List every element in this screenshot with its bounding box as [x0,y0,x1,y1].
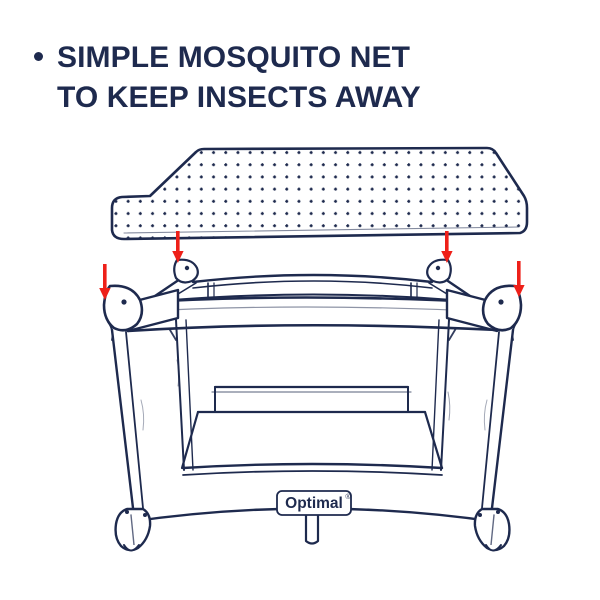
playpen-frame: Optimal ® [104,260,521,551]
mosquito-net-panel [100,140,540,250]
mesh-shade-left2 [141,400,144,430]
brand-badge: Optimal ® [277,491,351,515]
lower-front-band-bottom [183,471,442,475]
brand-badge-label: Optimal [285,495,343,512]
mesh-shade-right2 [484,400,487,430]
inner-right-post [441,320,449,470]
illustration-page: SIMPLE MOSQUITO NET TO KEEP INSECTS AWAY [0,0,600,600]
corner-hinge-front-right [483,286,521,340]
center-support-foot [306,512,318,544]
lower-front-band-top [183,464,442,468]
wheel-right [475,509,510,551]
wheel-left [116,509,151,551]
arrow-down-3 [441,231,452,263]
brand-badge-trademark: ® [345,493,351,501]
front-left-leg-inner [126,332,143,508]
front-left-leg-outer [112,330,133,508]
playpen-mosquito-net-illustration: Optimal ® [0,0,600,600]
floor-right-perspective [425,412,442,468]
front-top-padded-rail [128,298,497,332]
inner-left-post [176,320,184,470]
corner-hinge-front-left [104,286,142,340]
corner-hinge-rear-right [427,260,451,283]
front-right-leg-outer [492,330,513,508]
corner-hinge-rear-left [174,260,198,283]
back-top-rail-inner [193,281,432,288]
mesh-shade-right [448,392,450,420]
